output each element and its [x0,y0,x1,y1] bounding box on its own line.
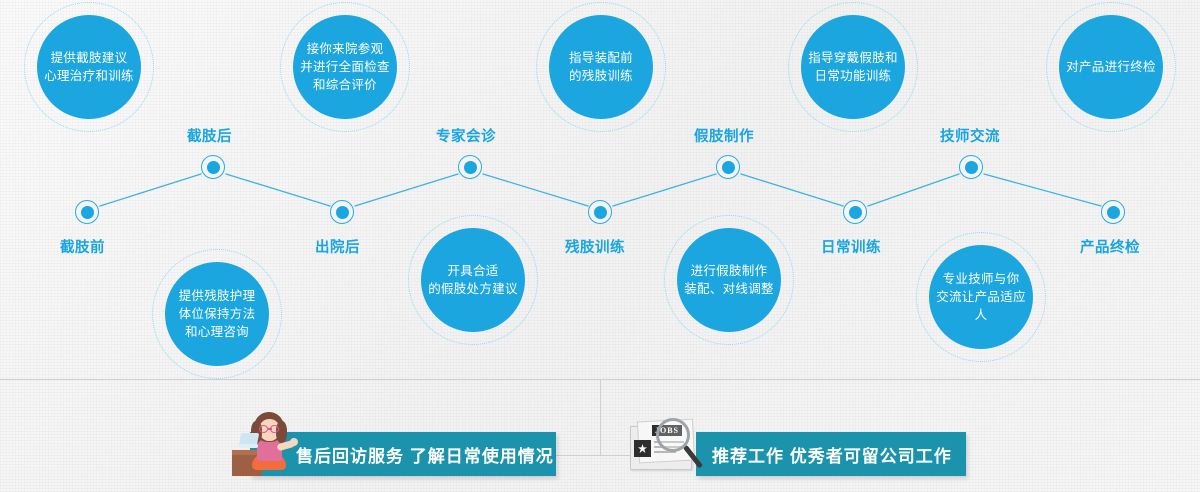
node-dot-icon [849,206,862,219]
node-dot-icon [965,161,978,174]
timeline-node-n8[interactable] [959,155,983,179]
timeline-node-n2[interactable] [201,155,225,179]
bubble-b9-label: 对产品进行终检 [1059,15,1163,119]
glasses-bridge-icon [268,428,272,430]
node-dot-icon [464,161,477,174]
timeline-node-label-n3: 出院后 [315,236,360,257]
bubble-b4-label: 开具合适的假肢处方建议 [421,228,525,332]
banner-aftersales-label: 售后回访服务 了解日常使用情况 [296,442,554,467]
laptop-base-icon [238,444,258,448]
magnifier-lens-icon [656,418,690,452]
timeline-node-label-n1: 截肢前 [60,236,105,257]
bubble-b8: 专业技师与你交流让产品适应人 [916,232,1046,362]
timeline-node-n5[interactable] [588,200,612,224]
node-dot-icon [207,161,220,174]
timeline-node-n6[interactable] [716,155,740,179]
bubble-b1-label: 提供截肢建议心理治疗和训练 [37,15,141,119]
bubble-b5-label: 指导装配前的残肢训练 [549,15,653,119]
timeline-node-n7[interactable] [843,200,867,224]
timeline-node-n3[interactable] [330,200,354,224]
banner-jobs[interactable]: 推荐工作 优秀者可留公司工作 [696,432,966,476]
process-flow-diagram: 提供截肢建议心理治疗和训练提供残肢护理体位保持方法和心理咨询接你来院参观并进行全… [0,0,1200,492]
bubble-b5: 指导装配前的残肢训练 [536,2,666,132]
bubble-b2-label: 提供残肢护理体位保持方法和心理咨询 [165,262,269,366]
timeline-node-label-n5: 残肢训练 [565,236,625,257]
hair-right-icon [276,421,287,443]
node-dot-icon [81,206,94,219]
bubble-b1: 提供截肢建议心理治疗和训练 [24,2,154,132]
timeline-node-label-n8: 技师交流 [940,125,1000,146]
timeline-node-label-n6: 假肢制作 [694,125,754,146]
banner-jobs-label: 推荐工作 优秀者可留公司工作 [712,442,952,467]
timeline-node-n1[interactable] [75,200,99,224]
jobs-magnifier-illustration: JOBS [628,418,706,476]
bubble-b2: 提供残肢护理体位保持方法和心理咨询 [152,249,282,379]
timeline-node-n9[interactable] [1101,200,1125,224]
timeline-node-label-n4: 专家会诊 [436,125,496,146]
bubble-b6: 进行假肢制作装配、对线调整 [664,215,794,345]
timeline-node-label-n2: 截肢后 [187,125,232,146]
bubble-b3-label: 接你来院参观并进行全面检查和综合评价 [293,15,397,119]
bubble-b7: 指导穿戴假肢和日常功能训练 [788,2,918,132]
bubble-b6-label: 进行假肢制作装配、对线调整 [677,228,781,332]
bubble-b9: 对产品进行终检 [1046,2,1176,132]
node-dot-icon [722,161,735,174]
bubble-b7-label: 指导穿戴假肢和日常功能训练 [801,15,905,119]
bubble-b3: 接你来院参观并进行全面检查和综合评价 [280,2,410,132]
bubble-b4: 开具合适的假肢处方建议 [408,215,538,345]
divider-vertical-center [600,379,601,455]
node-dot-icon [594,206,607,219]
node-dot-icon [1107,206,1120,219]
bubble-b8-label: 专业技师与你交流让产品适应人 [929,245,1033,349]
timeline-node-label-n9: 产品终检 [1080,236,1140,257]
woman-at-desk-illustration [232,412,298,476]
timeline-node-n4[interactable] [458,155,482,179]
timeline-node-label-n7: 日常训练 [821,236,881,257]
node-dot-icon [336,206,349,219]
newspaper-photo-icon [634,440,651,457]
hand-icon [290,438,298,446]
